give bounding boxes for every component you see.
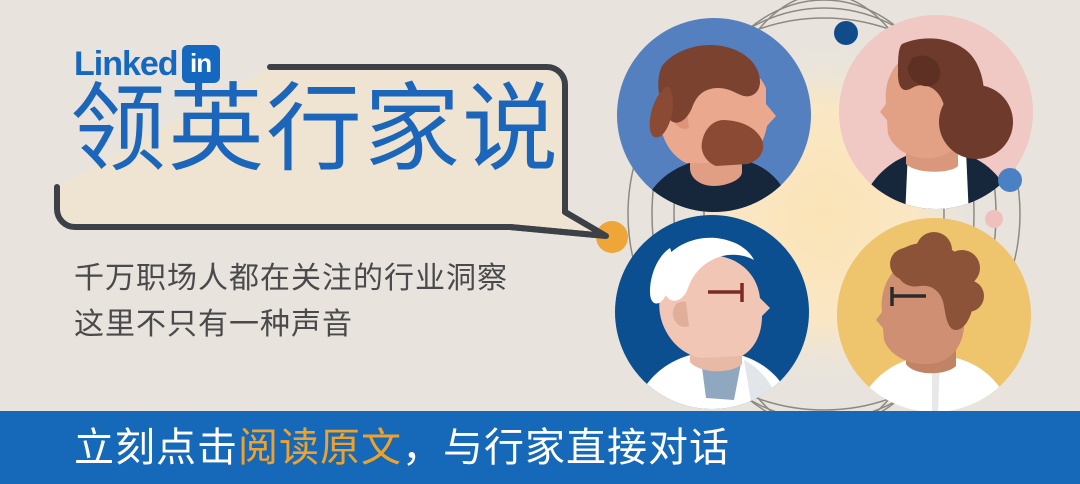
cta-suffix: ，与行家直接对话 [402, 426, 730, 470]
subtitle-line-1: 千万职场人都在关注的行业洞察 [74, 256, 508, 302]
cta-highlight-link[interactable]: 阅读原文 [238, 426, 402, 470]
page-title: 领英行家说 [70, 82, 560, 178]
cta-prefix: 立刻点击 [74, 426, 238, 470]
dot-blue-icon [998, 168, 1022, 192]
cta-banner[interactable]: 立刻点击阅读原文，与行家直接对话 [0, 411, 1080, 484]
cta-banner-text: 立刻点击阅读原文，与行家直接对话 [74, 428, 730, 468]
dot-navy-icon [834, 21, 858, 45]
poster-canvas: Linked in 领英行家说 千万职场人都在关注的行业洞察 这里不只有一种声音… [0, 0, 1080, 484]
subtitle-line-2: 这里不只有一种声音 [74, 302, 508, 348]
subtitle-block: 千万职场人都在关注的行业洞察 这里不只有一种声音 [74, 256, 508, 347]
dot-pink-icon [985, 210, 1003, 228]
